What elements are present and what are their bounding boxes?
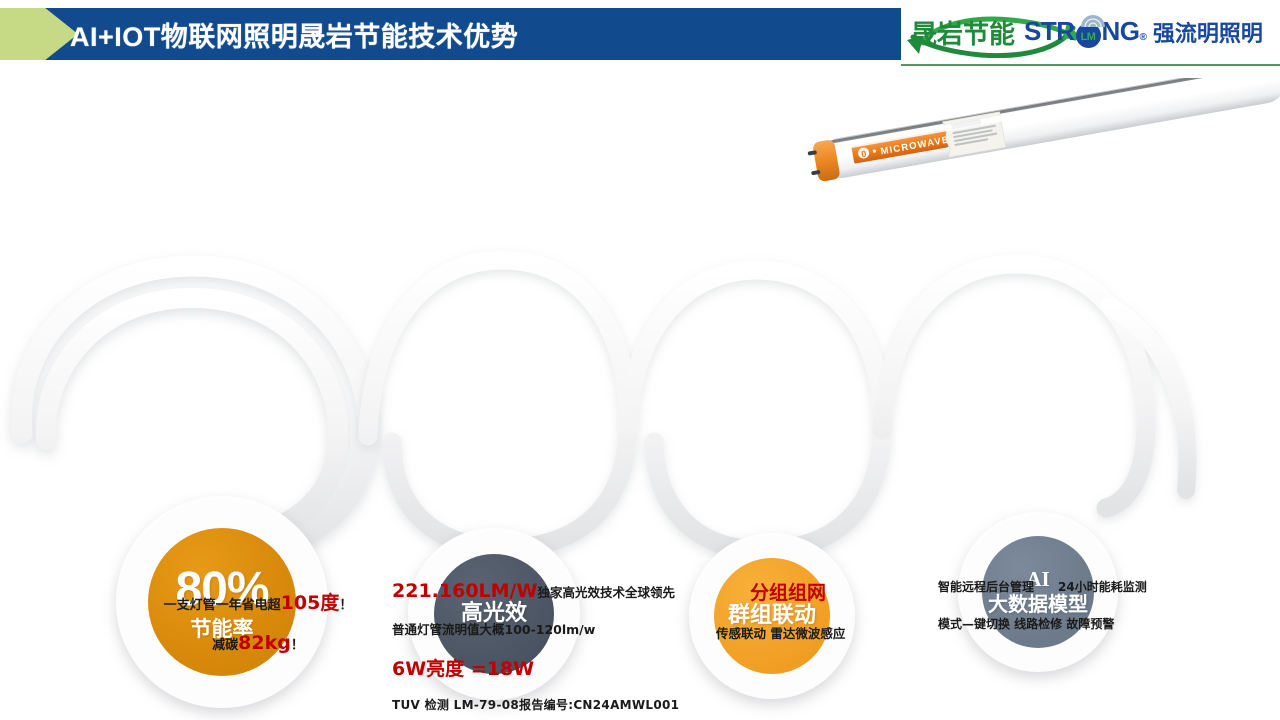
caption-group-linkage: 分组组网 传感联动 雷达微波感应 bbox=[710, 578, 940, 642]
cap4-l2-p1: 模式—键切换 线路检修 故障预警 bbox=[938, 617, 1114, 631]
logo-strong-post: NG bbox=[1102, 16, 1140, 47]
led-tube-svg: 0 MICROWAVE bbox=[770, 78, 1280, 208]
logo-lm-circle-icon: LM bbox=[1076, 23, 1101, 48]
header: AI+IOT物联网照明晟岩节能技术优势 晟岩节能 STR bbox=[0, 0, 1280, 66]
cap1-l2-p2: 82kg bbox=[238, 632, 291, 654]
caption-energy-saving: 一支灯管一年省电超105度！ 减碳82kg！ bbox=[108, 588, 408, 654]
cap3-l2-p1: 传感联动 雷达微波感应 bbox=[716, 626, 845, 641]
cap1-l2-p3: ！ bbox=[291, 638, 304, 653]
logo-fan-icon bbox=[1080, 14, 1106, 28]
caption-ai-bigdata: 智能远程后台管理 24小时能耗监测 模式—键切换 线路检修 故障预警 bbox=[938, 578, 1228, 632]
logo-strong-pre: STR bbox=[1024, 16, 1075, 47]
logo-chinese-brand: 晟岩节能 bbox=[911, 20, 1015, 50]
brand-logo-panel: 晟岩节能 STR LM NG ® 强流明照明 bbox=[901, 0, 1280, 66]
logo-lm-text: LM bbox=[1081, 31, 1096, 43]
cap2-l1-p1: 221.160LM/W bbox=[392, 580, 537, 602]
registered-mark-icon: ® bbox=[1140, 32, 1147, 43]
cap3-l1-p1: 分组组网 bbox=[750, 582, 826, 604]
page-title: AI+IOT物联网照明晟岩节能技术优势 bbox=[70, 8, 518, 60]
cap1-l2-p1: 减碳 bbox=[212, 638, 238, 653]
cap2-l2-p1: 普通灯管流明值大概100-120lm/w bbox=[392, 622, 595, 637]
logo-strong-group: STR LM NG ® bbox=[1024, 16, 1147, 48]
slide-root: AI+IOT物联网照明晟岩节能技术优势 晟岩节能 STR bbox=[0, 0, 1280, 720]
logo-chinese-brand-group: 晟岩节能 bbox=[907, 14, 1019, 51]
feature-circles-diagram: 80% 节能率 高光效 群组联动 AI 大数据模型 bbox=[0, 228, 1280, 558]
cap2-l3-p1: 6W亮度 =18W bbox=[392, 658, 534, 680]
cap4-l1-p1: 智能远程后台管理 24小时能耗监测 bbox=[938, 580, 1147, 594]
tube-body: 0 MICROWAVE bbox=[806, 78, 1280, 183]
caption-high-efficacy: 221.160LM/W独家高光效技术全球领先 普通灯管流明值大概100-120l… bbox=[392, 580, 712, 713]
cap2-l4-p1: TUV 检测 LM-79-08报告编号:CN24AMWL001 bbox=[392, 698, 679, 712]
cap1-l1-p1: 一支灯管一年省电超 bbox=[164, 598, 281, 613]
cap1-l1-p2: 105度 bbox=[281, 592, 340, 614]
product-led-tube-image: 0 MICROWAVE bbox=[770, 78, 1280, 208]
cap1-l1-p3: ！ bbox=[339, 598, 352, 613]
logo-chinese-subbrand: 强流明照明 bbox=[1153, 16, 1263, 48]
cap2-l1-p2: 独家高光效技术全球领先 bbox=[537, 585, 675, 600]
